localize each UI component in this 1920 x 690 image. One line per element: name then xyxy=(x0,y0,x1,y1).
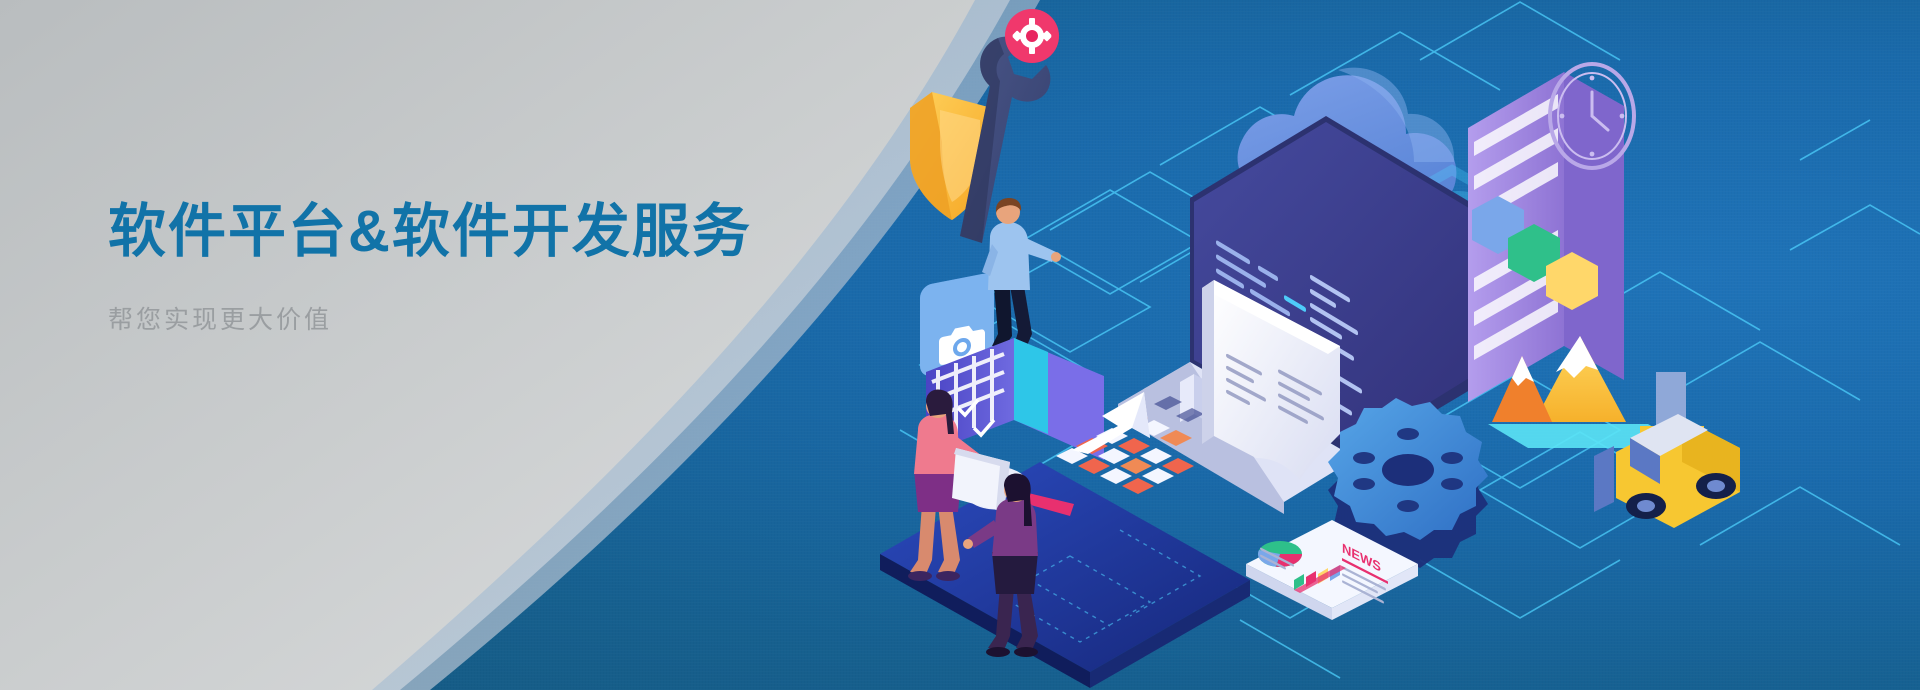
hero-banner: 软件平台&软件开发服务 帮您实现更大价值 xyxy=(0,0,1920,690)
clock-icon xyxy=(1550,64,1634,168)
document-panel-icon xyxy=(1468,72,1624,402)
page-subtitle: 帮您实现更大价值 xyxy=(108,300,752,336)
forklift-icon xyxy=(1594,372,1740,528)
hero-illustration: NEWS xyxy=(860,0,1920,690)
banner-copy: 软件平台&软件开发服务 帮您实现更大价值 xyxy=(108,198,752,336)
gear-badge-icon xyxy=(1005,9,1059,63)
page-title: 软件平台&软件开发服务 xyxy=(108,198,752,266)
